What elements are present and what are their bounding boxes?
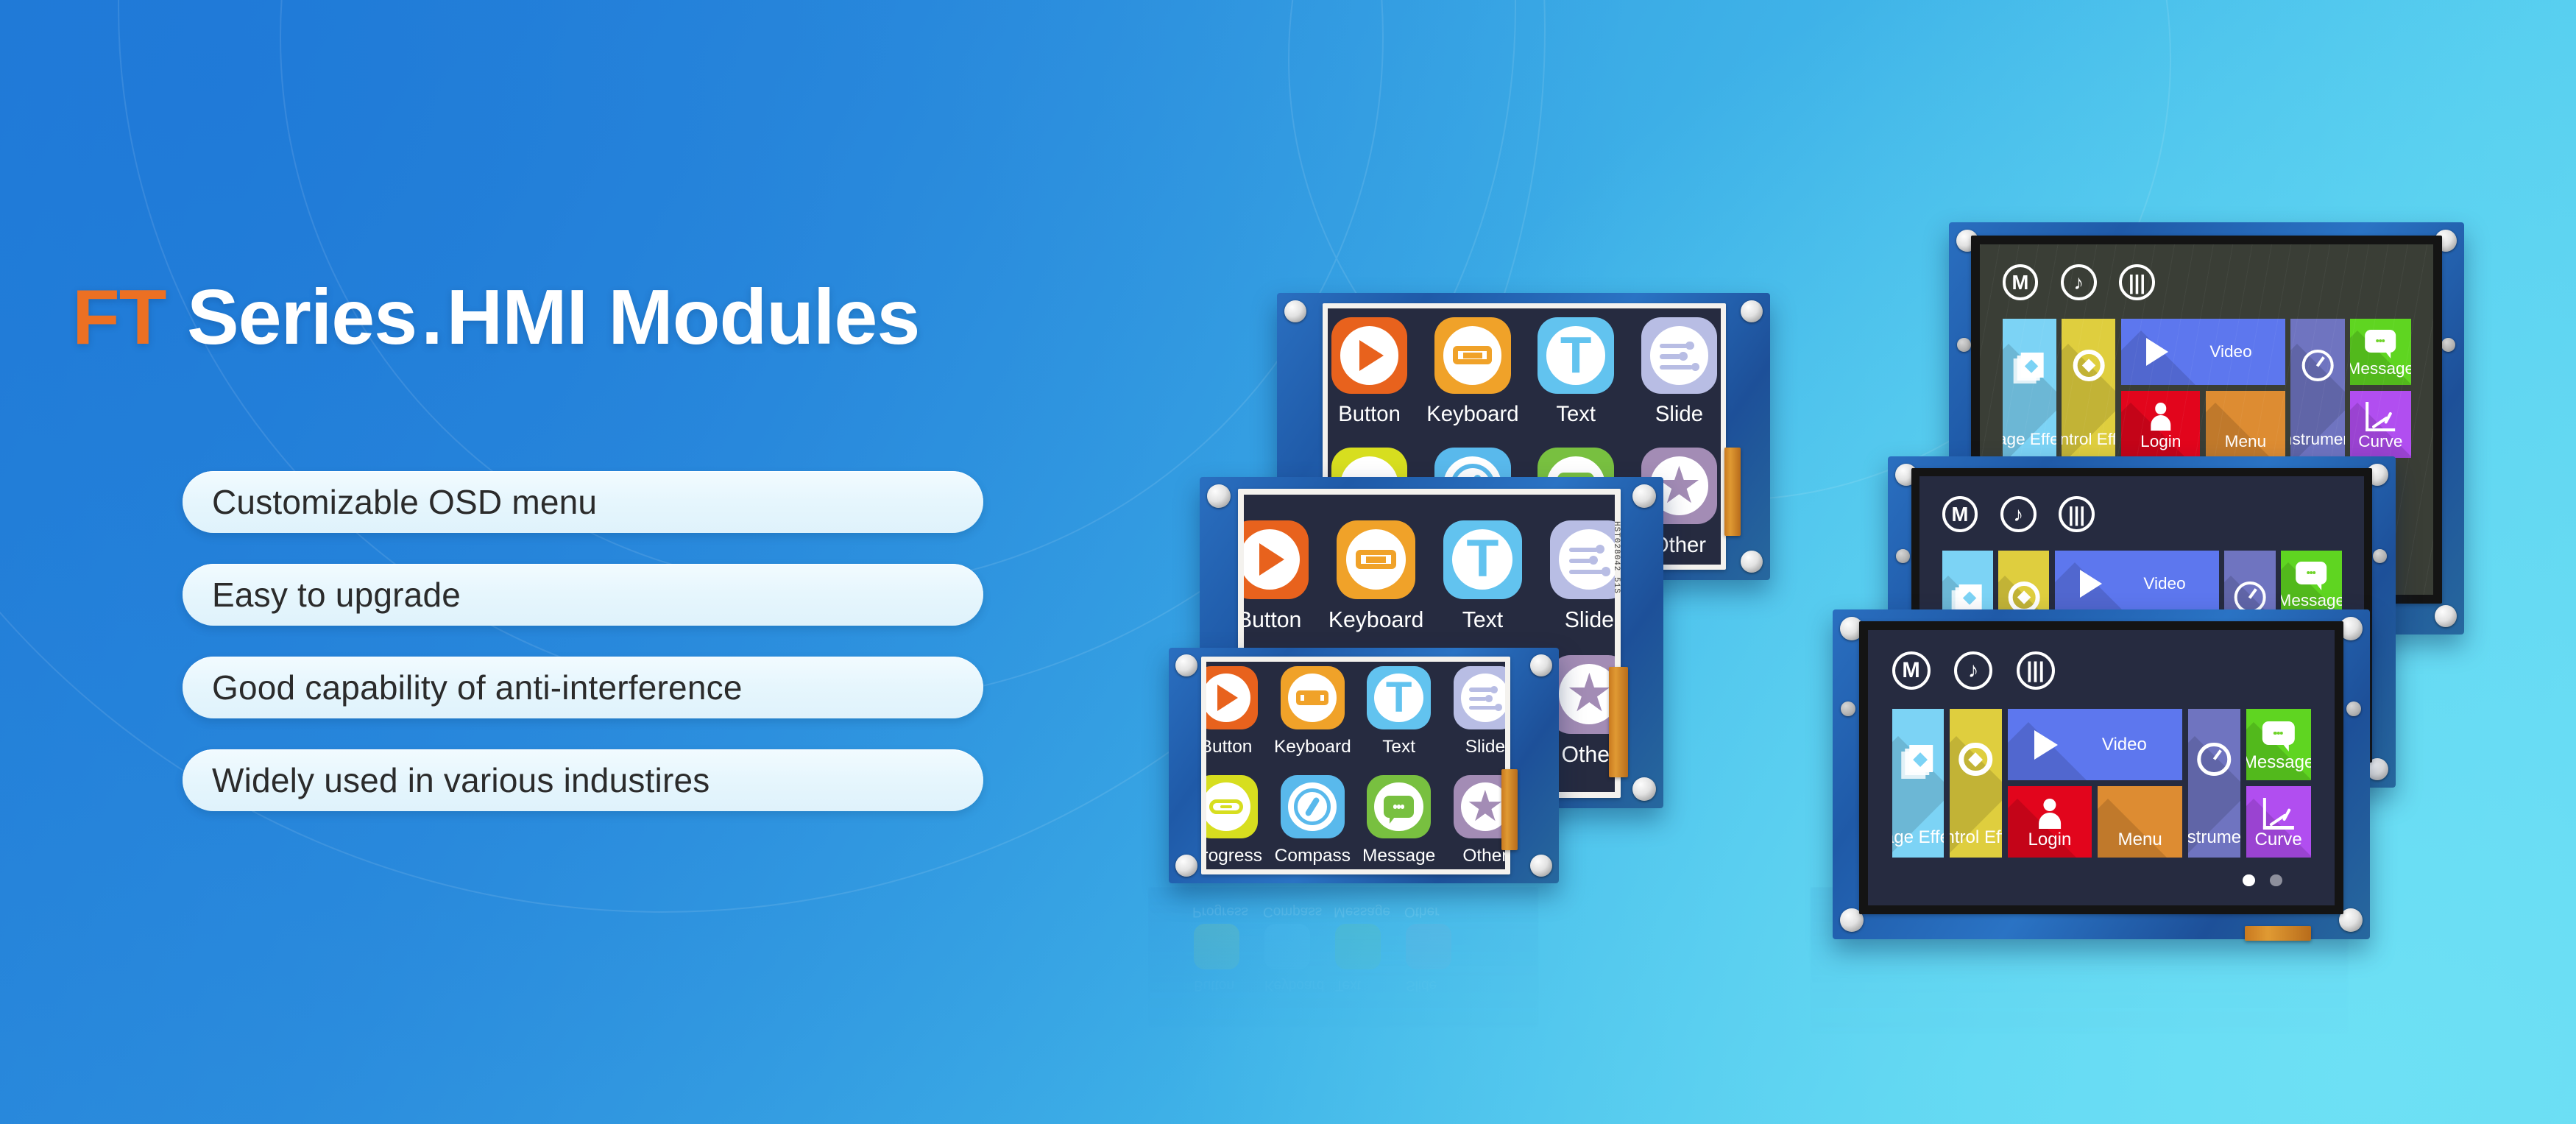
tile-video[interactable]: Video <box>2055 551 2219 618</box>
pages-icon <box>1901 743 1935 779</box>
tile-label: Instrument <box>2188 827 2240 848</box>
curve-icon <box>2366 402 2396 431</box>
app-icon-message[interactable]: Message <box>1356 775 1442 866</box>
tile-label: Message <box>2246 752 2311 773</box>
metro-home-screen: M♪|||Page EffectControl EffectVideoLogin… <box>1868 630 2335 905</box>
ring-icon <box>2073 350 2105 381</box>
tile-label: Login <box>2140 432 2181 451</box>
app-icon-disc <box>1559 529 1615 590</box>
app-icon-tile <box>1281 775 1345 839</box>
person-icon <box>2146 402 2176 431</box>
app-icon-label: Slide <box>1655 403 1703 425</box>
app-icon-keyboard[interactable]: Keyboard <box>1270 666 1356 757</box>
tile-label: Message <box>2350 359 2410 378</box>
star-icon: ★ <box>1466 785 1504 828</box>
app-icon-button[interactable]: Button <box>1244 520 1323 632</box>
app-icon-slide[interactable]: Slide <box>1442 666 1505 757</box>
tile-instrument[interactable]: Instrument <box>2290 319 2344 458</box>
app-icon-keyboard[interactable]: Keyboard <box>1421 317 1524 425</box>
gauge-icon <box>2302 350 2334 381</box>
app-icon-disc <box>1206 782 1250 831</box>
tile-label: Video <box>2209 342 2251 361</box>
app-icon-tile <box>1331 317 1408 394</box>
play-icon <box>2080 570 2102 598</box>
status-bar: M♪||| <box>1942 496 2342 532</box>
tile-page-effect[interactable]: Page Effect <box>1892 709 1945 858</box>
lcd-screen: M♪|||Page EffectControl EffectVideoLogin… <box>1868 630 2335 905</box>
equalizer-icon[interactable]: ||| <box>2059 496 2095 532</box>
app-icon-disc: ★ <box>1461 782 1505 831</box>
app-icon-other[interactable]: ★Other <box>1442 775 1505 866</box>
status-bar: M♪||| <box>2003 264 2411 300</box>
app-icon-tile <box>1244 520 1309 599</box>
mounting-hole <box>1741 551 1763 573</box>
tile-curve[interactable]: Curve <box>2246 786 2311 858</box>
mounting-hole <box>1175 654 1197 676</box>
app-icon-disc <box>1374 782 1423 831</box>
icon-grid-home-screen: ButtonKeyboardTTextSlideProgressCompassM… <box>1206 662 1505 869</box>
tile-login[interactable]: Login <box>2008 786 2092 858</box>
play-icon <box>1359 340 1384 371</box>
icon-row: ButtonKeyboardTTextSlide <box>1206 666 1505 757</box>
app-icon-label: Slide <box>1465 738 1505 756</box>
mounting-hole <box>2373 549 2387 563</box>
sliders-icon <box>1569 544 1609 575</box>
app-icon-label: Other <box>1462 847 1505 865</box>
play-icon <box>2034 730 2058 760</box>
app-icon-slide[interactable]: Slide <box>1627 317 1721 425</box>
tile-subrow: LoginMenu <box>2121 391 2285 458</box>
app-icon-tile <box>1434 317 1511 394</box>
app-icon-disc <box>1650 326 1708 384</box>
play-icon <box>2146 338 2168 366</box>
tile-page-effect[interactable]: Page Effect <box>2003 319 2056 458</box>
app-icon-text[interactable]: TText <box>1356 666 1442 757</box>
app-icon-tile: ★ <box>1550 655 1615 734</box>
app-icon-disc: T <box>1546 326 1604 384</box>
app-icon-tile <box>1367 775 1431 839</box>
mounting-hole <box>1284 300 1306 322</box>
pages-icon <box>2014 350 2045 383</box>
app-icon-label: Button <box>1206 738 1252 756</box>
app-icon-label: Keyboard <box>1274 738 1351 756</box>
mounting-hole <box>2441 338 2455 352</box>
app-icon-label: Other <box>1562 744 1615 766</box>
mounting-hole <box>1632 777 1656 801</box>
tile-label: Page Effect <box>2003 430 2056 449</box>
play-icon <box>1259 543 1284 576</box>
mounting-hole <box>2346 701 2361 716</box>
app-icon-button[interactable]: Button <box>1328 317 1421 425</box>
keyboard-icon <box>1296 690 1328 706</box>
chat-icon <box>2366 330 2396 353</box>
tile-label: Page Effect <box>1892 827 1945 848</box>
ring-icon <box>2009 582 2040 613</box>
tile-menu[interactable]: Menu <box>2098 786 2182 858</box>
text-t-icon: T <box>1466 533 1498 586</box>
app-icon-disc <box>1288 674 1337 722</box>
tile-label: Video <box>2143 574 2185 593</box>
app-icon-keyboard[interactable]: Keyboard <box>1323 520 1429 632</box>
app-icon-tile: T <box>1443 520 1522 599</box>
tile-label: Video <box>2102 735 2147 755</box>
m-badge-icon[interactable]: M <box>2003 264 2039 300</box>
app-icon-tile <box>1281 666 1345 730</box>
app-icon-disc <box>1443 326 1501 384</box>
sliders-icon <box>1660 340 1699 370</box>
tile-label: Login <box>2028 830 2072 850</box>
app-icon-tile <box>1641 317 1718 394</box>
text-t-icon: T <box>1386 676 1412 719</box>
app-icon-disc <box>1244 529 1300 590</box>
compass-icon <box>1294 788 1331 825</box>
tile-message[interactable]: Message <box>2246 709 2311 780</box>
flex-ribbon-cable <box>2245 926 2311 941</box>
person-icon <box>2034 798 2065 829</box>
mounting-hole <box>1741 300 1763 322</box>
tile-control-effect[interactable]: Control Effect <box>2062 319 2115 458</box>
gauge-icon <box>2234 582 2266 613</box>
app-icon-disc <box>1288 782 1337 831</box>
app-icon-tile <box>1550 520 1615 599</box>
music-off-icon[interactable]: ♪ <box>2000 496 2037 532</box>
mounting-hole <box>1530 855 1552 877</box>
mounting-hole <box>2435 605 2457 627</box>
tile-label: Menu <box>2225 432 2266 451</box>
app-icon-label: Text <box>1382 738 1415 756</box>
app-icon-disc: T <box>1452 529 1512 590</box>
page-dot[interactable] <box>2243 874 2255 887</box>
page-indicator <box>2243 874 2310 887</box>
chat-icon <box>2262 721 2294 746</box>
tile-grid: Page EffectControl EffectVideoLoginMenuI… <box>2003 319 2411 458</box>
tile-label: Curve <box>2358 432 2402 451</box>
app-icon-tile: ★ <box>1454 775 1505 839</box>
m-badge-icon[interactable]: M <box>1942 496 1978 532</box>
mounting-hole <box>1896 549 1910 563</box>
tile-column: MessageCurve <box>2246 709 2311 858</box>
app-icon-label: Slide <box>1565 609 1614 632</box>
tile-subrow: LoginMenu <box>2008 786 2182 858</box>
tile-label: Instrument <box>2290 430 2344 449</box>
app-icon-progress[interactable]: Progress <box>1206 775 1270 866</box>
star-icon: ★ <box>1565 668 1613 721</box>
icon-row: ProgressCompassMessage★Other <box>1206 775 1505 866</box>
equalizer-icon[interactable]: ||| <box>2017 651 2055 690</box>
tile-label: Control Effect <box>2062 430 2115 449</box>
app-icon-tile: T <box>1367 666 1431 730</box>
app-icon-label: Button <box>1244 609 1301 632</box>
tile-grid: Page EffectControl EffectVideoLoginMenuI… <box>1892 709 2311 858</box>
status-bar: M♪||| <box>1892 651 2311 690</box>
tile-message[interactable]: Message <box>2350 319 2410 386</box>
mounting-hole <box>1957 338 1971 352</box>
mounting-hole <box>1175 855 1197 877</box>
ring-icon <box>1959 743 1993 777</box>
equalizer-icon[interactable]: ||| <box>2119 264 2155 300</box>
app-icon-tile <box>1206 666 1258 730</box>
tile-curve[interactable]: Curve <box>2350 391 2410 458</box>
m-badge-icon[interactable]: M <box>1892 651 1931 690</box>
tile-column: VideoLoginMenu <box>2008 709 2182 858</box>
app-icon-disc <box>1206 674 1250 722</box>
curve-icon <box>2263 798 2294 829</box>
tile-column: MessageCurve <box>2350 319 2410 458</box>
tile-video[interactable]: Video <box>2121 319 2285 386</box>
keyboard-icon <box>1356 550 1395 569</box>
app-icon-label: Text <box>1462 609 1503 632</box>
tile-label: Message <box>2281 591 2341 610</box>
gauge-icon <box>2198 743 2232 777</box>
tile-control-effect[interactable]: Control Effect <box>1950 709 2002 858</box>
mounting-hole <box>1632 484 1656 508</box>
app-icon-button[interactable]: Button <box>1206 666 1270 757</box>
app-icon-disc <box>1461 674 1505 722</box>
flex-ribbon-cable <box>1501 769 1518 850</box>
module-70-front: M♪|||Page EffectControl EffectVideoLogin… <box>1833 609 2370 939</box>
play-icon <box>1217 685 1238 711</box>
sliders-icon <box>1469 685 1501 710</box>
icon-row: ButtonKeyboardTTextSlide <box>1244 520 1615 632</box>
app-icon-label: Text <box>1556 403 1596 425</box>
chat-bubble-icon <box>1384 796 1415 819</box>
app-icon-text[interactable]: TText <box>1429 520 1536 632</box>
app-icon-tile <box>1206 775 1258 839</box>
lcd-screen: ButtonKeyboardTTextSlideProgressCompassM… <box>1206 662 1505 869</box>
tile-login[interactable]: Login <box>2121 391 2200 458</box>
app-icon-label: Button <box>1338 403 1401 425</box>
tile-message[interactable]: Message <box>2281 551 2341 618</box>
chat-icon <box>2296 562 2327 584</box>
app-icon-tile: T <box>1538 317 1614 394</box>
flex-ribbon-cable <box>1609 667 1628 777</box>
app-icon-compass[interactable]: Compass <box>1270 775 1356 866</box>
app-icon-disc <box>1346 529 1406 590</box>
tile-label: Menu <box>2118 830 2162 850</box>
app-icon-disc: ★ <box>1559 664 1615 724</box>
tile-label: Control Effect <box>1950 827 2002 848</box>
tile-video[interactable]: Video <box>2008 709 2182 780</box>
keyboard-icon <box>1453 346 1492 364</box>
product-photo-group: ButtonKeyboardTTextSlideProgressCompassM… <box>0 0 2576 1124</box>
music-off-icon[interactable]: ♪ <box>2061 264 2097 300</box>
app-icon-label: Progress <box>1206 847 1262 865</box>
music-off-icon[interactable]: ♪ <box>1954 651 1992 690</box>
tile-instrument[interactable]: Instrument <box>2188 709 2240 858</box>
app-icon-label: Keyboard <box>1328 609 1423 632</box>
text-t-icon: T <box>1560 330 1591 381</box>
grid-icon <box>2125 798 2156 829</box>
display-bezel: ButtonKeyboardTTextSlideProgressCompassM… <box>1201 657 1510 874</box>
app-icon-tile <box>1454 666 1505 730</box>
app-icon-label: Message <box>1362 847 1435 865</box>
app-icon-disc <box>1340 326 1398 384</box>
grid-icon <box>2231 402 2260 431</box>
app-icon-text[interactable]: TText <box>1524 317 1627 425</box>
app-icon-tile <box>1337 520 1415 599</box>
tile-label: Curve <box>2255 830 2302 850</box>
flex-ribbon-cable <box>1724 448 1741 536</box>
tile-column: VideoLoginMenu <box>2121 319 2285 458</box>
icon-row: ButtonKeyboardTTextSlide <box>1328 317 1721 425</box>
app-icon-label: Compass <box>1275 847 1351 865</box>
mounting-hole <box>1530 654 1552 676</box>
mounting-hole <box>1207 484 1231 508</box>
app-icon-slide[interactable]: Slide <box>1536 520 1615 632</box>
board-silkscreen-code: HST028042 51S <box>1612 521 1621 594</box>
tile-menu[interactable]: Menu <box>2206 391 2285 458</box>
display-bezel: M♪|||Page EffectControl EffectVideoLogin… <box>1859 621 2343 914</box>
module-24-front: ButtonKeyboardTTextSlideProgressCompassM… <box>1169 648 1559 883</box>
app-icon-label: Keyboard <box>1426 403 1518 425</box>
page-dot[interactable] <box>2270 874 2282 887</box>
progress-bar-icon <box>1209 799 1242 815</box>
app-icon-disc: T <box>1374 674 1423 722</box>
